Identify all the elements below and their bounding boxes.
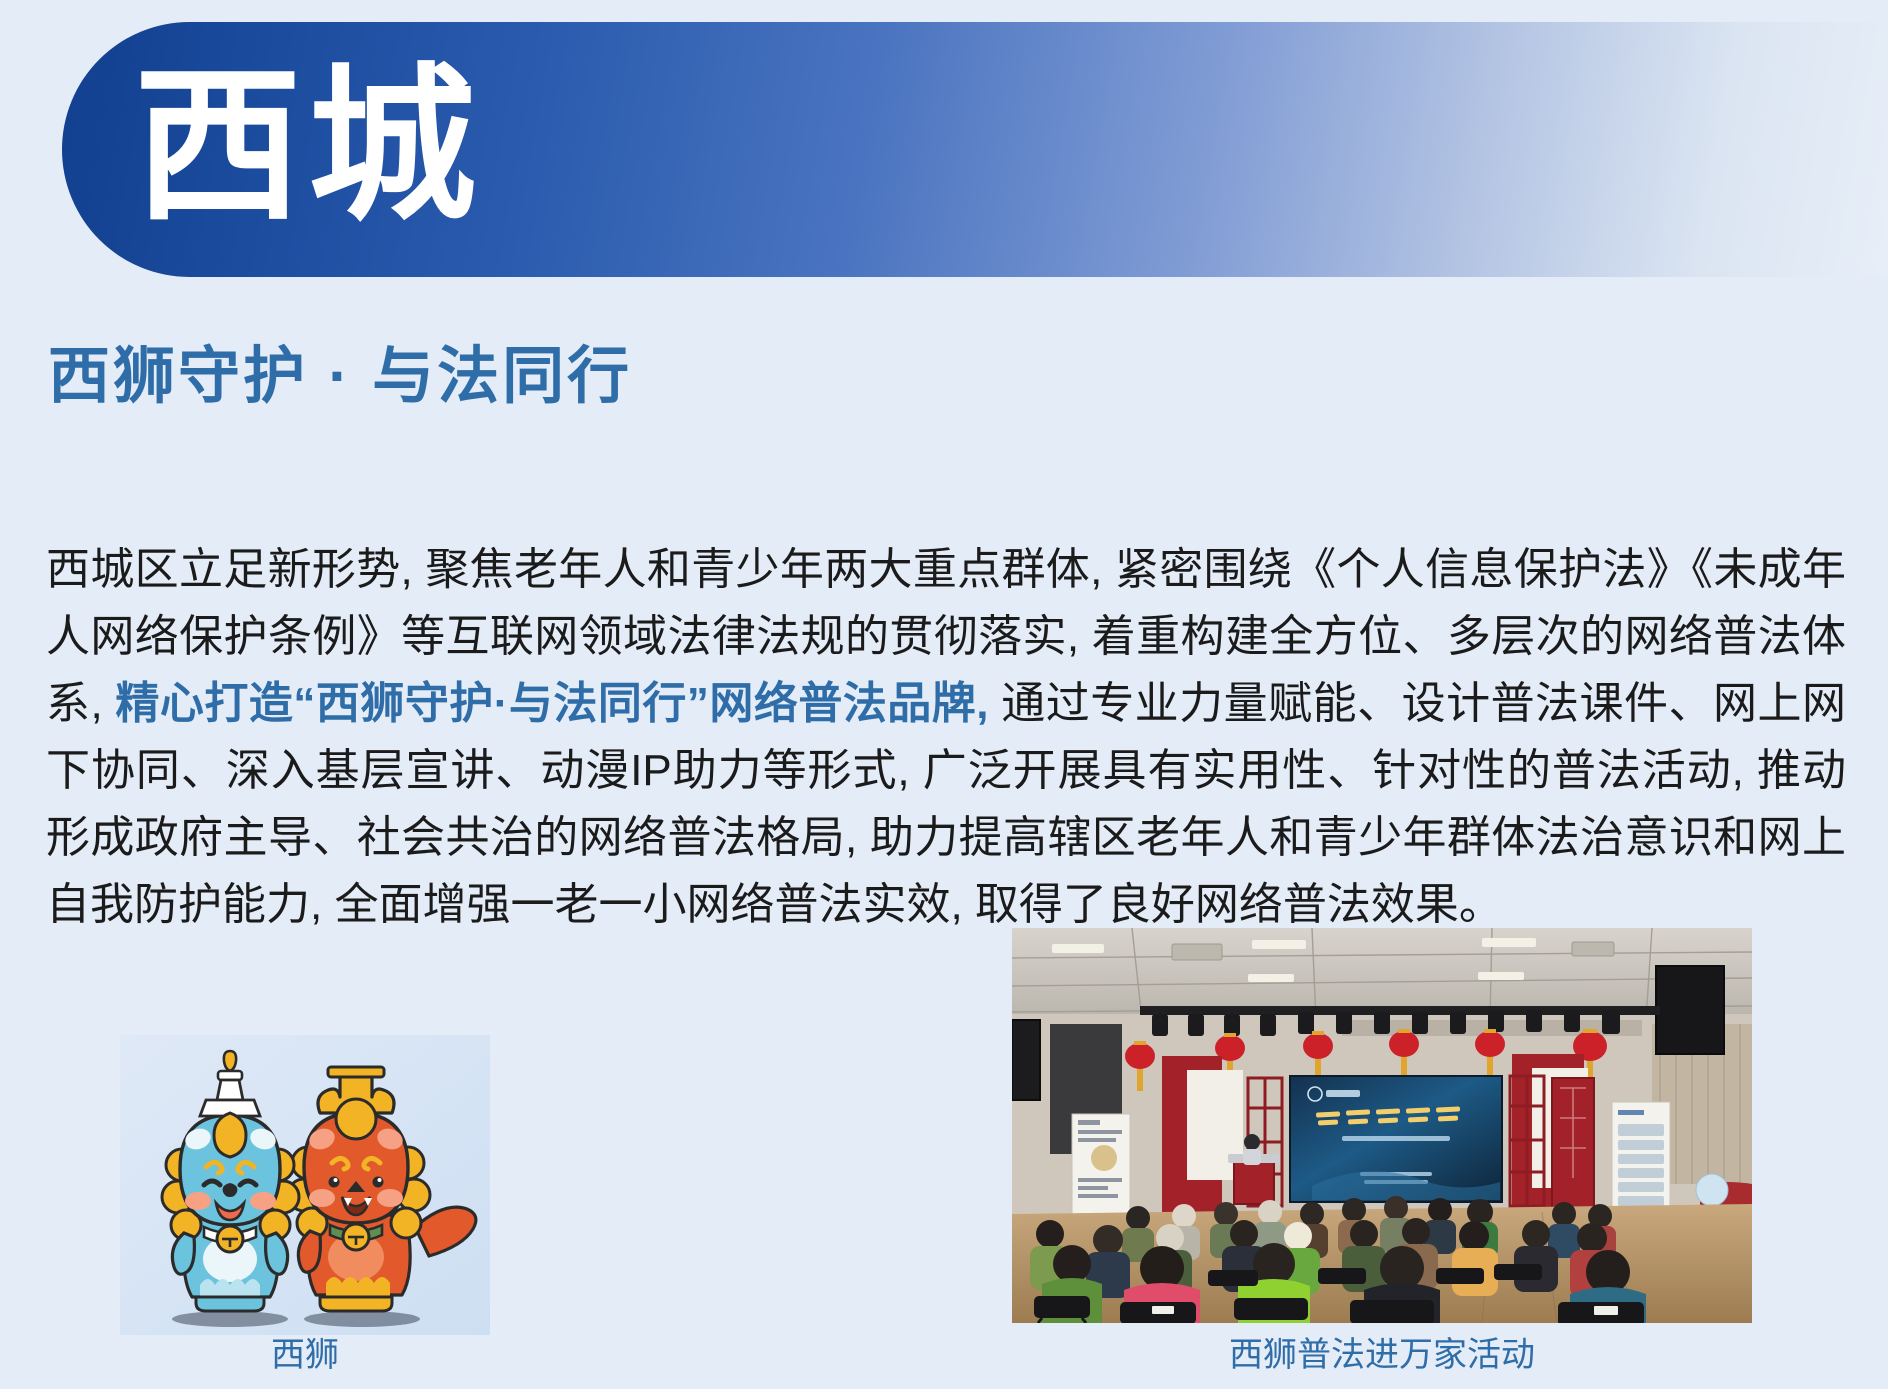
section-title: 西狮守护 · 与法同行 [48, 338, 632, 416]
body-text-highlight: 精心打造“西狮守护·与法同行”网络普法品牌, [115, 679, 988, 728]
body-paragraph: 西城区立足新形势, 聚焦老年人和青少年两大重点群体, 紧密围绕《个人信息保护法》… [46, 536, 1846, 938]
event-photo-image [1012, 928, 1752, 1323]
event-photo-caption: 西狮普法进万家活动 [1012, 1334, 1752, 1376]
page-title: 西城 [134, 36, 482, 256]
event-photo [1012, 928, 1752, 1323]
mascot-caption: 西狮 [120, 1334, 490, 1376]
mascot-figure [120, 1035, 490, 1335]
mascot-illustration [120, 1035, 490, 1335]
event-photo-figure [1012, 928, 1752, 1323]
header-banner: 西城 [62, 22, 1888, 277]
